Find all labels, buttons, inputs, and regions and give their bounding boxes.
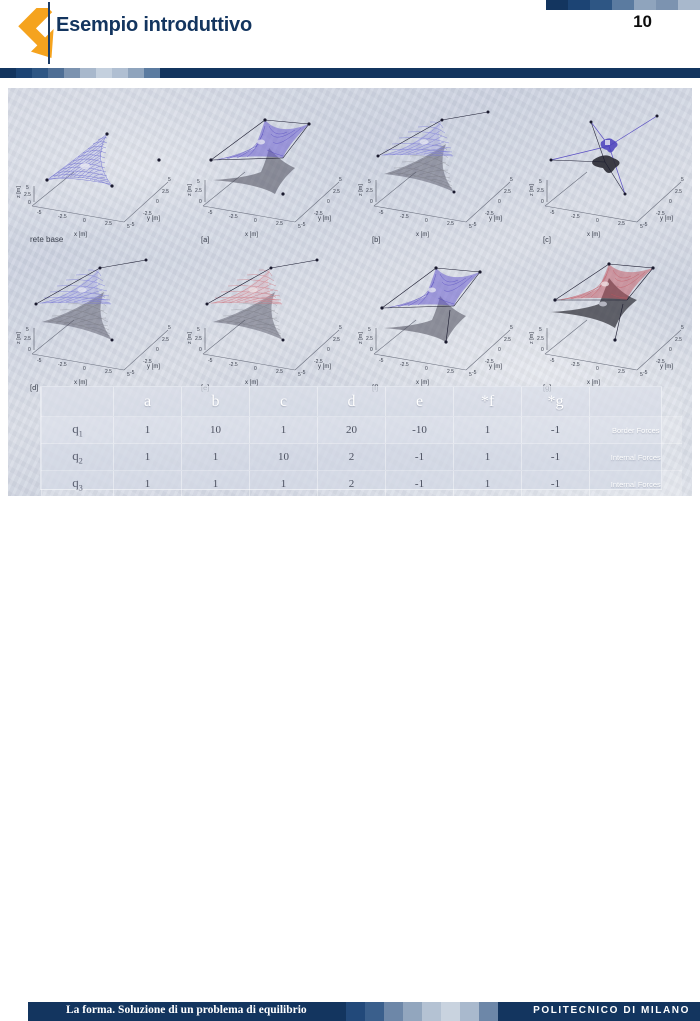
plot-d: 52.50 -5-2.50 2.55 -5-2.50 2.55 z [m] x … — [12, 246, 183, 394]
svg-text:-5: -5 — [301, 222, 306, 228]
svg-text:0: 0 — [83, 218, 86, 224]
header-corner-block-2 — [590, 0, 612, 10]
svg-text:2.5: 2.5 — [333, 189, 340, 195]
cell-q3-f: 1 — [454, 471, 522, 497]
svg-text:-5: -5 — [550, 210, 555, 216]
cell-q2-e: -1 — [386, 444, 454, 471]
header-corner-blocks — [546, 0, 700, 10]
svg-text:-2.5: -2.5 — [400, 362, 409, 368]
cell-q2-g: -1 — [522, 444, 590, 471]
svg-text:-2.5: -2.5 — [571, 362, 580, 368]
header-rule-blocks — [0, 68, 160, 78]
footer-block-5 — [422, 1002, 441, 1021]
plot-label: [a] — [201, 235, 209, 244]
svg-text:5: 5 — [539, 179, 542, 185]
header-rule-block-9 — [144, 68, 160, 78]
parameters-table: a b c d e *f *g q1 1 10 1 20 -10 — [41, 387, 682, 496]
svg-text:2.5: 2.5 — [276, 369, 283, 375]
table-col-b: b — [182, 387, 250, 417]
svg-text:z [m]: z [m] — [16, 332, 22, 344]
footer-subtitle: La forma. Soluzione di un problema di eq… — [66, 1004, 307, 1016]
plot-label: [c] — [543, 235, 551, 244]
table-row: q1 1 10 1 20 -10 1 -1 Border Forces — [42, 417, 682, 444]
header-corner-block-5 — [656, 0, 678, 10]
table-row: q3 1 1 1 2 -1 1 -1 Internal Forces — [42, 471, 682, 497]
header-rule-block-1 — [16, 68, 32, 78]
svg-text:-2.5: -2.5 — [229, 214, 238, 220]
row-label-q3: q3 — [42, 471, 114, 497]
cell-q1-note: Border Forces — [590, 417, 682, 444]
footer-blocks — [327, 1002, 498, 1021]
svg-text:2.5: 2.5 — [24, 336, 31, 342]
svg-text:-5: -5 — [301, 370, 306, 376]
svg-text:z [m]: z [m] — [358, 332, 364, 344]
svg-text:0: 0 — [498, 347, 501, 353]
svg-text:2.5: 2.5 — [105, 369, 112, 375]
plot-f: 52.50 -5-2.50 2.55 -5-2.50 2.55 z [m] x … — [354, 246, 525, 394]
table-col-c: c — [250, 387, 318, 417]
plot-rete-base: 52.50 -5-2.50 2.55 -5-2.50 2.55 z [m] x … — [12, 98, 183, 246]
svg-text:2.5: 2.5 — [162, 189, 169, 195]
svg-text:y [m]: y [m] — [147, 364, 160, 370]
svg-text:-5: -5 — [379, 210, 384, 216]
svg-text:2.5: 2.5 — [537, 188, 544, 194]
header-rule-block-3 — [48, 68, 64, 78]
cell-q3-d: 2 — [318, 471, 386, 497]
cell-q3-c: 1 — [250, 471, 318, 497]
svg-text:y [m]: y [m] — [660, 216, 673, 222]
svg-text:-5: -5 — [130, 370, 135, 376]
svg-text:0: 0 — [596, 366, 599, 372]
slide-header: Esempio introduttivo 10 — [0, 0, 700, 68]
svg-text:0: 0 — [425, 366, 428, 372]
svg-text:5: 5 — [197, 179, 200, 185]
svg-text:-5: -5 — [643, 222, 648, 228]
svg-text:-2.5: -2.5 — [58, 362, 67, 368]
cell-q2-note: Internal Forces — [590, 444, 682, 471]
svg-text:5: 5 — [197, 327, 200, 333]
row-label-sub: 2 — [79, 457, 83, 466]
table-col-g: *g — [522, 387, 590, 417]
svg-text:5: 5 — [168, 325, 171, 331]
plot-g: 52.50 -5-2.50 2.55 -5-2.50 2.55 z [m] x … — [525, 246, 692, 394]
svg-text:-5: -5 — [130, 222, 135, 228]
cell-q2-d: 2 — [318, 444, 386, 471]
svg-text:2.5: 2.5 — [195, 336, 202, 342]
footer-block-0 — [327, 1002, 346, 1021]
plot-b: 52.50 -5-2.50 2.55 -5-2.50 2.55 z [m] x … — [354, 98, 525, 246]
svg-text:0: 0 — [327, 199, 330, 205]
plot-a: 52.50 -5-2.50 2.55 -5-2.50 2.55 z [m] x … — [183, 98, 354, 246]
svg-text:y [m]: y [m] — [489, 364, 502, 370]
svg-text:-5: -5 — [472, 222, 477, 228]
table-col-e: e — [386, 387, 454, 417]
header-corner-block-0 — [546, 0, 568, 10]
svg-text:2.5: 2.5 — [105, 221, 112, 227]
svg-text:0: 0 — [669, 347, 672, 353]
cell-q1-a: 1 — [114, 417, 182, 444]
svg-text:-5: -5 — [643, 370, 648, 376]
table-row: q2 1 1 10 2 -1 1 -1 Internal Forces — [42, 444, 682, 471]
svg-text:0: 0 — [254, 366, 257, 372]
table-col-a: a — [114, 387, 182, 417]
svg-text:0: 0 — [370, 199, 373, 205]
cell-q2-f: 1 — [454, 444, 522, 471]
svg-text:0: 0 — [498, 199, 501, 205]
svg-text:5: 5 — [681, 177, 684, 183]
header-rule-block-5 — [80, 68, 96, 78]
svg-text:-5: -5 — [379, 358, 384, 364]
svg-text:5: 5 — [510, 325, 513, 331]
svg-text:2.5: 2.5 — [618, 369, 625, 375]
header-rule-block-7 — [112, 68, 128, 78]
parameters-table-wrapper: a b c d e *f *g q1 1 10 1 20 -10 — [40, 386, 662, 490]
cell-q3-note: Internal Forces — [590, 471, 682, 497]
table-corner-cell — [42, 387, 114, 417]
svg-text:y [m]: y [m] — [660, 364, 673, 370]
svg-text:2.5: 2.5 — [333, 337, 340, 343]
plot-label: [b] — [372, 235, 380, 244]
svg-text:0: 0 — [541, 347, 544, 353]
footer-block-6 — [441, 1002, 460, 1021]
svg-text:2.5: 2.5 — [366, 188, 373, 194]
svg-text:x [m]: x [m] — [245, 232, 258, 238]
footer-block-8 — [479, 1002, 498, 1021]
svg-text:z [m]: z [m] — [529, 332, 535, 344]
svg-text:0: 0 — [199, 347, 202, 353]
cell-q1-f: 1 — [454, 417, 522, 444]
svg-text:5: 5 — [510, 177, 513, 183]
svg-text:y [m]: y [m] — [318, 364, 331, 370]
svg-text:0: 0 — [156, 347, 159, 353]
page-number: 10 — [633, 12, 652, 32]
svg-text:0: 0 — [669, 199, 672, 205]
header-corner-block-1 — [568, 0, 590, 10]
svg-text:-5: -5 — [208, 358, 213, 364]
svg-text:y [m]: y [m] — [318, 216, 331, 222]
svg-text:0: 0 — [370, 347, 373, 353]
footer-brand: POLITECNICO DI MILANO — [533, 1005, 690, 1016]
svg-text:0: 0 — [327, 347, 330, 353]
cell-q2-a: 1 — [114, 444, 182, 471]
cell-q3-b: 1 — [182, 471, 250, 497]
cell-q3-e: -1 — [386, 471, 454, 497]
footer-block-2 — [365, 1002, 384, 1021]
row-label-q1: q1 — [42, 417, 114, 444]
header-rule-block-8 — [128, 68, 144, 78]
svg-text:2.5: 2.5 — [618, 221, 625, 227]
svg-text:2.5: 2.5 — [675, 337, 682, 343]
svg-text:5: 5 — [339, 177, 342, 183]
svg-text:-5: -5 — [550, 358, 555, 364]
footer-block-3 — [384, 1002, 403, 1021]
svg-text:z [m]: z [m] — [187, 184, 193, 196]
header-corner-block-6 — [678, 0, 700, 10]
svg-text:5: 5 — [681, 325, 684, 331]
plot-label: [d] — [30, 383, 38, 392]
svg-text:2.5: 2.5 — [276, 221, 283, 227]
plot-grid: 52.50 -5-2.50 2.55 -5-2.50 2.55 z [m] x … — [8, 88, 692, 384]
svg-text:2.5: 2.5 — [504, 337, 511, 343]
svg-text:5: 5 — [339, 325, 342, 331]
table-col-note — [590, 387, 682, 417]
svg-text:-2.5: -2.5 — [58, 214, 67, 220]
row-label-q2: q2 — [42, 444, 114, 471]
plot-label: rete base — [30, 235, 63, 244]
slide-content-area: 52.50 -5-2.50 2.55 -5-2.50 2.55 z [m] x … — [8, 88, 692, 496]
svg-text:5: 5 — [368, 179, 371, 185]
svg-text:2.5: 2.5 — [675, 189, 682, 195]
plot-c: 52.50 -5-2.50 2.55 -5-2.50 2.55 z [m] x … — [525, 98, 692, 246]
svg-text:y [m]: y [m] — [489, 216, 502, 222]
svg-text:5: 5 — [368, 327, 371, 333]
svg-text:-5: -5 — [472, 370, 477, 376]
svg-text:0: 0 — [254, 218, 257, 224]
cell-q1-g: -1 — [522, 417, 590, 444]
svg-text:y [m]: y [m] — [147, 216, 160, 222]
svg-text:z [m]: z [m] — [358, 184, 364, 196]
svg-text:z [m]: z [m] — [187, 332, 193, 344]
header-rule-block-0 — [0, 68, 16, 78]
table-col-d: d — [318, 387, 386, 417]
svg-text:0: 0 — [83, 366, 86, 372]
svg-text:0: 0 — [156, 199, 159, 205]
header-corner-block-4 — [634, 0, 656, 10]
table-col-f: *f — [454, 387, 522, 417]
svg-text:2.5: 2.5 — [366, 336, 373, 342]
cell-q1-e: -10 — [386, 417, 454, 444]
svg-text:x [m]: x [m] — [74, 232, 87, 238]
svg-text:-2.5: -2.5 — [400, 214, 409, 220]
svg-text:x [m]: x [m] — [587, 232, 600, 238]
svg-text:0: 0 — [28, 347, 31, 353]
footer-block-1 — [346, 1002, 365, 1021]
cell-q2-b: 1 — [182, 444, 250, 471]
svg-text:-2.5: -2.5 — [229, 362, 238, 368]
slide-footer: La forma. Soluzione di un problema di eq… — [0, 499, 700, 525]
title-divider — [48, 2, 50, 64]
cell-q1-c: 1 — [250, 417, 318, 444]
svg-text:-5: -5 — [37, 210, 42, 216]
svg-text:2.5: 2.5 — [195, 188, 202, 194]
cell-q3-a: 1 — [114, 471, 182, 497]
header-corner-block-3 — [612, 0, 634, 10]
page-title: Esempio introduttivo — [56, 14, 252, 37]
plot-e: 52.50 -5-2.50 2.55 -5-2.50 2.55 z [m] x … — [183, 246, 354, 394]
svg-text:0: 0 — [425, 218, 428, 224]
header-rule-block-2 — [32, 68, 48, 78]
svg-text:2.5: 2.5 — [24, 192, 31, 198]
svg-text:5: 5 — [539, 327, 542, 333]
header-rule-block-4 — [64, 68, 80, 78]
svg-text:2.5: 2.5 — [447, 221, 454, 227]
footer-block-7 — [460, 1002, 479, 1021]
header-rule-block-6 — [96, 68, 112, 78]
svg-text:5: 5 — [26, 185, 29, 191]
cell-q2-c: 10 — [250, 444, 318, 471]
svg-text:z [m]: z [m] — [16, 186, 22, 198]
svg-text:-2.5: -2.5 — [571, 214, 580, 220]
svg-text:0: 0 — [199, 199, 202, 205]
svg-text:-5: -5 — [37, 358, 42, 364]
cell-q1-b: 10 — [182, 417, 250, 444]
svg-text:2.5: 2.5 — [162, 337, 169, 343]
cell-q3-g: -1 — [522, 471, 590, 497]
svg-text:x [m]: x [m] — [416, 232, 429, 238]
svg-text:2.5: 2.5 — [537, 336, 544, 342]
footer-block-4 — [403, 1002, 422, 1021]
svg-text:0: 0 — [596, 218, 599, 224]
svg-text:0: 0 — [541, 199, 544, 205]
cell-q1-d: 20 — [318, 417, 386, 444]
row-label-sub: 3 — [79, 484, 83, 493]
svg-text:z [m]: z [m] — [529, 184, 535, 196]
svg-text:5: 5 — [26, 327, 29, 333]
svg-text:2.5: 2.5 — [504, 189, 511, 195]
svg-text:-5: -5 — [208, 210, 213, 216]
svg-text:2.5: 2.5 — [447, 369, 454, 375]
svg-text:5: 5 — [168, 177, 171, 183]
table-header-row: a b c d e *f *g — [42, 387, 682, 417]
row-label-sub: 1 — [79, 430, 83, 439]
svg-text:0: 0 — [28, 200, 31, 206]
